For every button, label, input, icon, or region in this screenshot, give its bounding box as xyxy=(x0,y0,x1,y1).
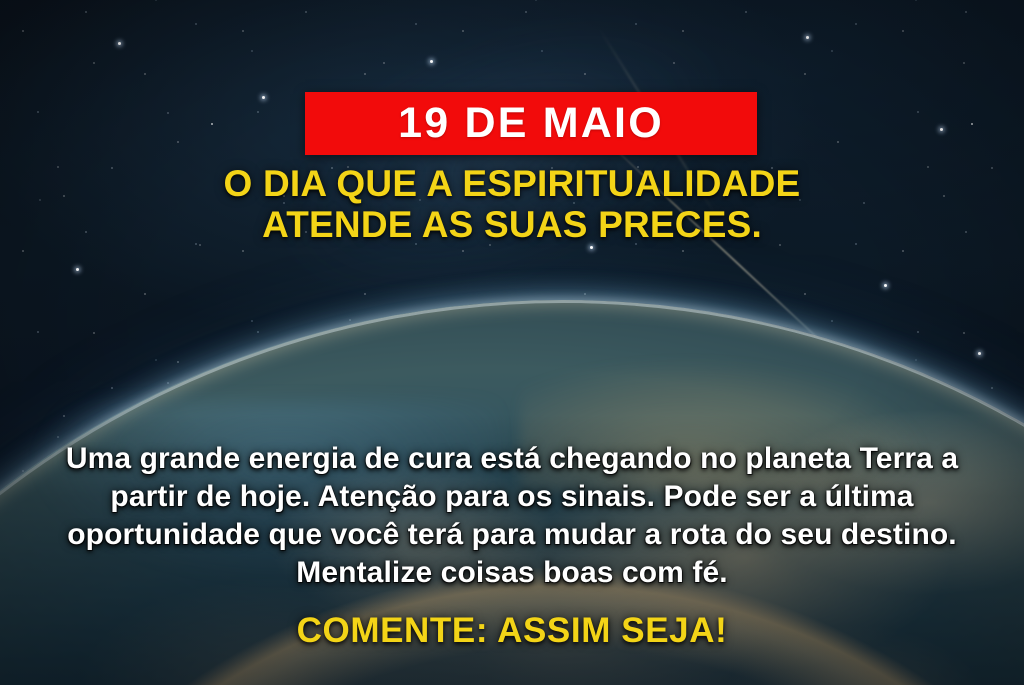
headline: O DIA QUE A ESPIRITUALIDADE ATENDE AS SU… xyxy=(0,163,1024,246)
headline-line-1: O DIA QUE A ESPIRITUALIDADE xyxy=(224,163,801,204)
poster-content: 19 DE MAIO O DIA QUE A ESPIRITUALIDADE A… xyxy=(0,0,1024,685)
headline-line-2: ATENDE AS SUAS PRECES. xyxy=(0,204,1024,245)
date-banner-label: 19 DE MAIO xyxy=(398,102,664,145)
body-paragraph: Uma grande energia de cura está chegando… xyxy=(46,440,978,592)
call-to-action-text: COMENTE: ASSIM SEJA! xyxy=(0,613,1024,648)
poster-canvas: 19 DE MAIO O DIA QUE A ESPIRITUALIDADE A… xyxy=(0,0,1024,685)
date-banner: 19 DE MAIO xyxy=(305,92,757,155)
